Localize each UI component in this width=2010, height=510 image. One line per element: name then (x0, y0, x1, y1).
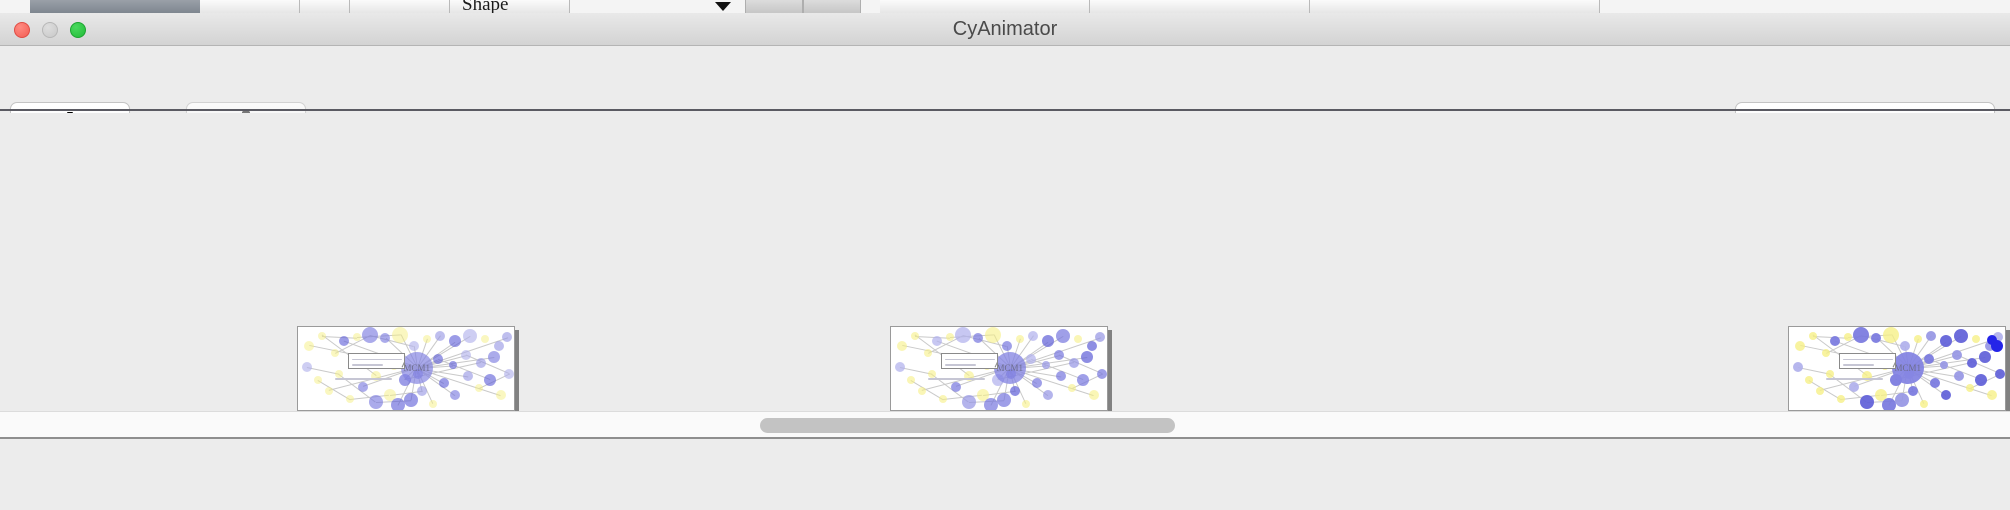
annotation-text-line (1843, 359, 1893, 361)
bg-sort-arrow-icon (715, 2, 731, 11)
network-node (1849, 382, 1859, 392)
network-node (985, 327, 1001, 343)
network-node (1924, 354, 1934, 364)
network-node (1972, 335, 1980, 343)
network-hub-node: MCM1 (401, 352, 433, 384)
network-node (1043, 390, 1053, 400)
network-node (1941, 390, 1951, 400)
window-title: CyAnimator (0, 13, 2010, 46)
network-annotation-box (941, 353, 998, 369)
network-node (1056, 329, 1070, 343)
network-edge (1808, 380, 1841, 400)
bg-segment (880, 0, 1090, 13)
network-node (331, 349, 339, 357)
network-node (1930, 378, 1940, 388)
network-node (1097, 369, 1107, 379)
network-node (939, 395, 947, 403)
bg-segment (1310, 0, 1600, 13)
network-node (1940, 361, 1948, 369)
network-node (502, 332, 512, 342)
timeline-frame-thumbnail[interactable]: MCM1 (297, 326, 515, 411)
network-node (1068, 384, 1076, 392)
network-node (1895, 393, 1909, 407)
network-node (1077, 374, 1089, 386)
bg-segment (200, 0, 300, 13)
network-edge (910, 380, 943, 400)
network-node (997, 393, 1011, 407)
network-node (1809, 332, 1817, 340)
network-node (391, 398, 405, 411)
network-node (449, 335, 461, 347)
annotation-text-line (1843, 364, 1874, 366)
bg-segment (350, 0, 450, 13)
network-node (358, 382, 368, 392)
scrollbar-thumb[interactable] (760, 418, 1175, 433)
annotation-text-line (352, 359, 402, 361)
network-node (984, 398, 998, 411)
network-node (302, 362, 312, 372)
network-node (897, 341, 907, 351)
network-node (1920, 400, 1928, 408)
network-node (946, 333, 954, 341)
network-node (932, 336, 942, 346)
network-node (450, 390, 460, 400)
network-node (918, 387, 926, 395)
network-node (1926, 331, 1936, 341)
network-node (1900, 341, 1910, 351)
bg-label-shape: Shape (462, 0, 508, 13)
network-node (1793, 362, 1803, 372)
network-node (325, 387, 333, 395)
network-caption-text (1826, 378, 1883, 380)
network-node (392, 327, 408, 343)
timeline-panel[interactable]: MCM1MCM1MCM1 12131415161718 Seconds (0, 113, 2010, 411)
network-node (1054, 350, 1064, 360)
network-node (429, 400, 437, 408)
network-caption-text (928, 378, 985, 380)
network-node (911, 332, 919, 340)
network-node (924, 349, 932, 357)
network-node (1002, 341, 1012, 351)
network-node (955, 327, 971, 343)
network-node (1028, 331, 1038, 341)
network-node (339, 336, 349, 346)
network-node (463, 329, 477, 343)
network-node (1966, 384, 1974, 392)
network-node (423, 335, 431, 343)
network-node (1954, 371, 1964, 381)
network-node (481, 335, 489, 343)
bg-segment (300, 0, 350, 13)
network-node (1022, 400, 1030, 408)
network-node (1908, 386, 1918, 396)
network-node (1016, 335, 1024, 343)
network-node (409, 341, 419, 351)
network-node (1975, 374, 1987, 386)
annotation-text-line (945, 364, 976, 366)
network-node (1883, 327, 1899, 343)
network-node (404, 393, 418, 407)
network-node (1940, 335, 1952, 347)
network-node (449, 361, 457, 369)
network-node (951, 382, 961, 392)
network-node (494, 341, 504, 351)
network-node (1822, 349, 1830, 357)
network-node (1805, 376, 1813, 384)
timeline-frame-thumbnail[interactable]: MCM1 (890, 326, 1108, 411)
network-node (488, 351, 500, 363)
network-node (369, 395, 383, 409)
cyanimator-window: Shape CyAnimator Clear All Frames MCM1MC… (0, 0, 2010, 510)
network-node (1795, 341, 1805, 351)
network-node (1844, 333, 1852, 341)
background-window-strip: Shape (0, 0, 2010, 13)
network-node (314, 376, 322, 384)
network-node (504, 369, 514, 379)
network-node (461, 350, 471, 360)
title-bar: CyAnimator (0, 13, 2010, 46)
network-node (1056, 371, 1066, 381)
network-node (1095, 332, 1105, 342)
network-node (439, 378, 449, 388)
network-node (1830, 336, 1840, 346)
network-node (1954, 329, 1968, 343)
network-node (1089, 390, 1099, 400)
network-node (496, 390, 506, 400)
annotation-text-line (945, 359, 995, 361)
network-node (476, 358, 486, 368)
network-node (463, 371, 473, 381)
network-node (417, 386, 427, 396)
network-hub-node: MCM1 (1892, 352, 1924, 384)
network-node (1882, 398, 1896, 411)
network-node (1967, 358, 1977, 368)
network-annotation-box (1839, 353, 1896, 369)
network-node (1816, 387, 1824, 395)
network-caption-text (335, 378, 392, 380)
network-node (353, 333, 361, 341)
network-node-highlighted (1987, 335, 1997, 345)
network-node (1032, 378, 1042, 388)
network-annotation-box (348, 353, 405, 369)
annotation-text-line (352, 364, 383, 366)
network-node (1837, 395, 1845, 403)
network-node (1987, 390, 1997, 400)
network-node (304, 341, 314, 351)
playback-bar: Animation Speed: (0, 441, 2010, 510)
network-node (484, 374, 496, 386)
network-node (1042, 335, 1054, 347)
network-node (1853, 327, 1869, 343)
network-node (1026, 354, 1036, 364)
timeline-scrollbar[interactable] (0, 411, 2010, 439)
network-node (895, 362, 905, 372)
bg-tab (745, 0, 803, 13)
network-node (1995, 369, 2005, 379)
network-node (1042, 361, 1050, 369)
network-edge (317, 380, 350, 400)
network-node (433, 354, 443, 364)
network-node (962, 395, 976, 409)
network-node (362, 327, 378, 343)
network-node (1914, 335, 1922, 343)
network-node (475, 384, 483, 392)
network-node (1069, 358, 1079, 368)
frame-toolbar: Clear All Frames (0, 46, 2010, 111)
network-node (907, 376, 915, 384)
network-node (1081, 351, 1093, 363)
network-node (1979, 351, 1991, 363)
network-node (1952, 350, 1962, 360)
network-node (1860, 395, 1874, 409)
network-node (318, 332, 326, 340)
timeline-frame-thumbnail[interactable]: MCM1 (1788, 326, 2006, 411)
network-node (1087, 341, 1097, 351)
network-node (1074, 335, 1082, 343)
network-node (1010, 386, 1020, 396)
network-node (435, 331, 445, 341)
network-node (346, 395, 354, 403)
bg-dark-segment (30, 0, 200, 13)
network-hub-node: MCM1 (994, 352, 1026, 384)
bg-tab (803, 0, 861, 13)
bg-segment (1090, 0, 1310, 13)
